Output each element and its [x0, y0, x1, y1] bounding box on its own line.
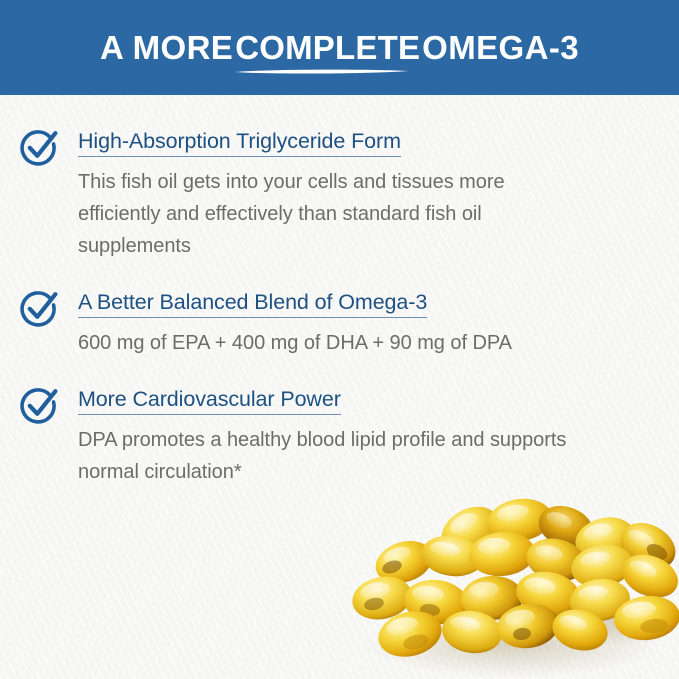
check-circle-icon — [17, 384, 61, 428]
title-text-before: A MORE — [100, 31, 233, 64]
check-circle-icon — [17, 126, 61, 170]
benefit-body-text: DPA promotes a healthy blood lipid profi… — [78, 424, 590, 488]
product-infographic: A MORE COMPLETE OMEGA-3 High-Absorption … — [0, 0, 679, 679]
benefit-body-text: 600 mg of EPA + 400 mg of DHA + 90 mg of… — [78, 327, 590, 359]
fish-oil-softgel-capsules-image — [352, 494, 679, 679]
benefit-body-text: This fish oil gets into your cells and t… — [78, 166, 590, 262]
check-circle-icon — [17, 287, 61, 331]
benefit-item: High-Absorption Triglyceride Form This f… — [0, 128, 679, 262]
benefits-list: High-Absorption Triglyceride Form This f… — [0, 95, 679, 488]
title-underline-swoosh-icon — [234, 68, 409, 75]
benefit-heading: High-Absorption Triglyceride Form — [78, 128, 401, 157]
title-emphasis-wrapper: COMPLETE — [233, 31, 422, 64]
benefit-item: A Better Balanced Blend of Omega-3 600 m… — [0, 289, 679, 359]
benefit-heading: More Cardiovascular Power — [78, 386, 341, 415]
title-text-after: OMEGA-3 — [422, 31, 579, 64]
title-emphasis-text: COMPLETE — [235, 29, 420, 66]
softgel-capsules-illustration — [352, 494, 679, 679]
benefit-item: More Cardiovascular Power DPA promotes a… — [0, 386, 679, 488]
benefit-heading: A Better Balanced Blend of Omega-3 — [78, 289, 427, 318]
header-banner: A MORE COMPLETE OMEGA-3 — [0, 0, 679, 95]
page-title: A MORE COMPLETE OMEGA-3 — [0, 0, 679, 95]
